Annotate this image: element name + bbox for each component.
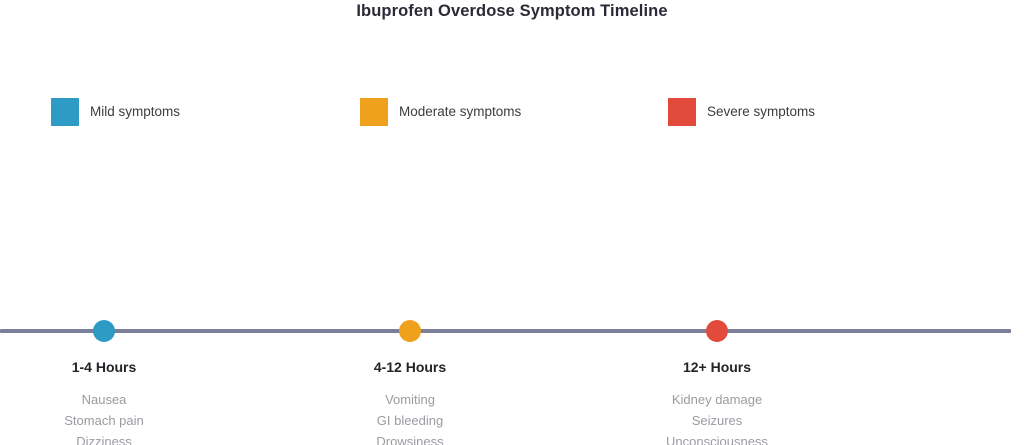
legend-item[interactable]: Mild symptoms bbox=[51, 98, 180, 126]
stage-heading: 4-12 Hours bbox=[290, 358, 530, 377]
timeline-chart: Ibuprofen Overdose Symptom Timeline Mild… bbox=[0, 0, 1024, 445]
list-item: Seizures bbox=[597, 411, 837, 432]
chart-legend: Mild symptomsModerate symptomsSevere sym… bbox=[0, 98, 1024, 128]
page-title: Ibuprofen Overdose Symptom Timeline bbox=[0, 0, 1024, 22]
legend-swatch-icon bbox=[51, 98, 79, 126]
stage-symptom-list: Kidney damageSeizuresUnconsciousness bbox=[597, 390, 837, 445]
list-item: Unconsciousness bbox=[597, 432, 837, 445]
list-item: Kidney damage bbox=[597, 390, 837, 411]
timeline-marker-icon[interactable] bbox=[399, 320, 421, 342]
timeline-marker-icon[interactable] bbox=[93, 320, 115, 342]
stage-heading: 1-4 Hours bbox=[0, 358, 224, 377]
list-item: GI bleeding bbox=[290, 411, 530, 432]
legend-swatch-icon bbox=[360, 98, 388, 126]
legend-item-label: Mild symptoms bbox=[90, 98, 180, 126]
legend-item-label: Moderate symptoms bbox=[399, 98, 521, 126]
timeline-axis-line bbox=[0, 329, 1011, 333]
stage-heading: 12+ Hours bbox=[597, 358, 837, 377]
list-item: Dizziness bbox=[0, 432, 224, 445]
legend-item[interactable]: Severe symptoms bbox=[668, 98, 815, 126]
list-item: Stomach pain bbox=[0, 411, 224, 432]
legend-item[interactable]: Moderate symptoms bbox=[360, 98, 521, 126]
timeline-marker-icon[interactable] bbox=[706, 320, 728, 342]
stage-symptom-list: VomitingGI bleedingDrowsiness bbox=[290, 390, 530, 445]
list-item: Vomiting bbox=[290, 390, 530, 411]
stage-symptom-list: NauseaStomach painDizziness bbox=[0, 390, 224, 445]
legend-swatch-icon bbox=[668, 98, 696, 126]
legend-item-label: Severe symptoms bbox=[707, 98, 815, 126]
list-item: Drowsiness bbox=[290, 432, 530, 445]
list-item: Nausea bbox=[0, 390, 224, 411]
